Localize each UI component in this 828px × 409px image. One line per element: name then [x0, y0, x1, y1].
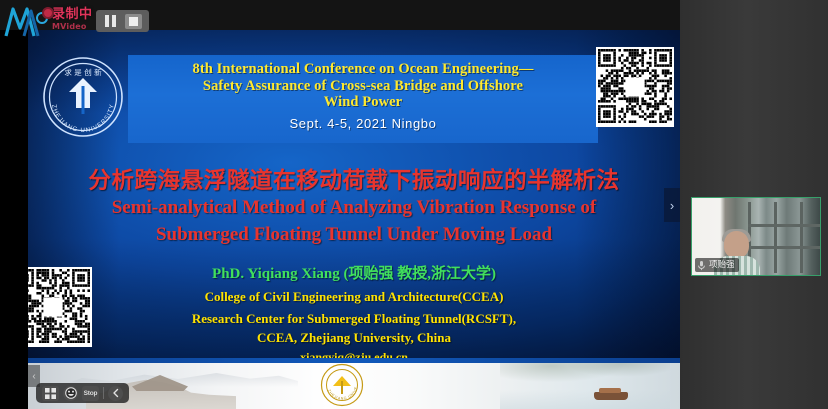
muted-icon	[697, 260, 706, 271]
conference-title-line3: Wind Power	[128, 94, 598, 111]
stop-share-label: Stop	[84, 390, 98, 397]
slide-title-english-line2: Submerged Floating Tunnel Under Moving L…	[28, 222, 680, 247]
conference-qr-code	[596, 47, 674, 127]
slide-footer-divider	[28, 358, 680, 363]
reactions-button[interactable]	[63, 386, 78, 401]
participant-head	[724, 231, 749, 258]
conference-date-location: Sept. 4-5, 2021 Ningbo	[128, 116, 598, 131]
background-shelf-row	[748, 224, 820, 227]
conference-title-line2: Safety Assurance of Cross-sea Bridge and…	[128, 78, 598, 95]
grid-icon	[45, 388, 56, 399]
stop-icon	[125, 14, 142, 29]
conference-header-banner: 8th International Conference on Ocean En…	[128, 55, 598, 143]
emoji-icon	[65, 387, 77, 399]
recording-transport-controls	[96, 10, 149, 32]
recording-label-en: MVideo	[52, 23, 93, 31]
pause-recording-button[interactable]	[102, 14, 119, 29]
pause-icon	[105, 15, 116, 27]
participant-name-badge: 项贻强	[695, 258, 739, 272]
affiliation-line3: CCEA, Zhejiang University, China	[28, 330, 680, 346]
next-slide-button[interactable]: ›	[664, 188, 680, 222]
affiliation-line1: College of Civil Engineering and Archite…	[28, 289, 680, 305]
zhejiang-university-seal-icon: ZHEJIANG UNIVERSITY	[320, 363, 364, 407]
background-shelf	[800, 202, 803, 273]
participant-name: 项贻强	[709, 261, 735, 270]
toolbar-divider	[103, 387, 104, 399]
recording-label-zh: 录制中	[52, 8, 93, 21]
floating-toolbar: Stop	[36, 383, 129, 403]
conference-title-line1: 8th International Conference on Ocean En…	[128, 55, 598, 78]
stop-recording-button[interactable]	[125, 14, 142, 29]
slide-title-english-line1: Semi-analytical Method of Analyzing Vibr…	[28, 195, 680, 220]
view-grid-button[interactable]	[42, 386, 59, 401]
chevron-left-icon	[111, 388, 121, 398]
slide-title-chinese: 分析跨海悬浮隧道在移动荷载下振动响应的半解析法	[28, 163, 680, 195]
lake-boat	[594, 392, 628, 400]
recording-dot	[42, 7, 54, 19]
zhejiang-university-logo-icon: 求 是 创 新 ZHEJIANG UNIVERSITY	[42, 56, 124, 138]
presentation-slide: 求 是 创 新 ZHEJIANG UNIVERSITY 8th Internat…	[28, 30, 680, 409]
background-shelf	[774, 202, 777, 273]
screen-share-window: 求 是 创 新 ZHEJIANG UNIVERSITY 8th Internat…	[0, 0, 828, 409]
presenter-name: PhD. Yiqiang Xiang (项贻强 教授,浙江大学)	[28, 262, 680, 283]
affiliation-line2: Research Center for Submerged Floating T…	[28, 311, 680, 327]
recording-watermark-label: 录制中 MVideo	[52, 8, 93, 31]
shared-screen-stage: 求 是 创 新 ZHEJIANG UNIVERSITY 8th Internat…	[0, 0, 680, 409]
participant-rail: 项贻强	[680, 0, 828, 409]
collapse-toolbar-button[interactable]	[108, 386, 123, 401]
west-lake-willow-scene	[500, 361, 670, 409]
stop-share-button[interactable]: Stop	[82, 386, 99, 401]
svg-text:求 是 创 新: 求 是 创 新	[64, 67, 102, 77]
participant-video-tile[interactable]: 项贻强	[691, 197, 821, 276]
letterbox-left	[0, 0, 28, 409]
